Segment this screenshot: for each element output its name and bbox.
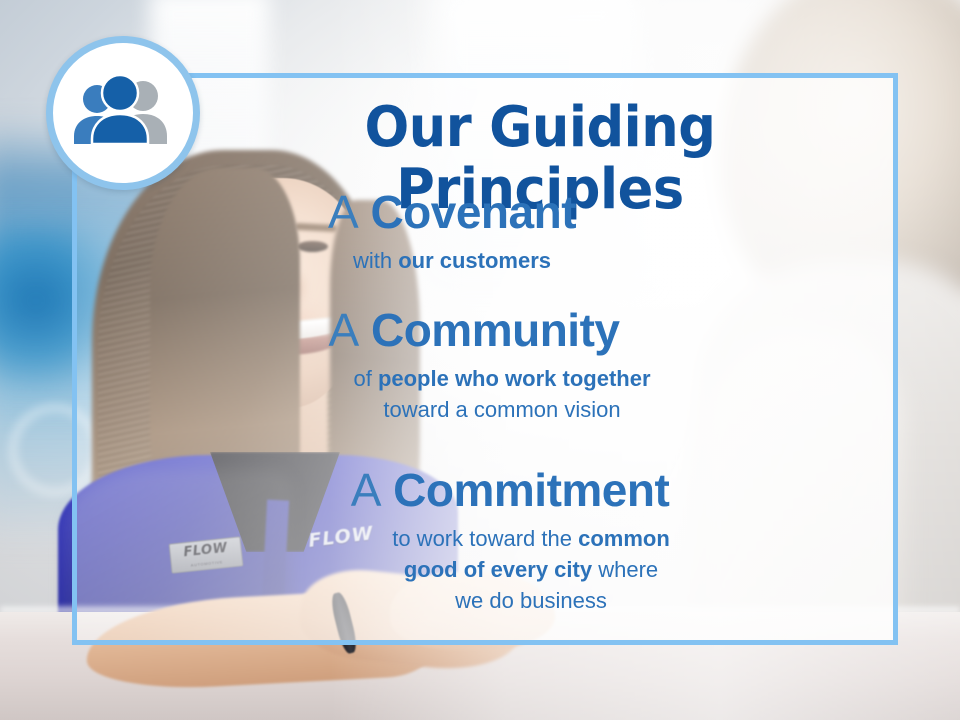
showroom-window-right: [430, 0, 640, 280]
associate-hands: [390, 572, 555, 650]
banner-graphic: FLOW FLOW AUTOMOTIVE: [0, 0, 960, 720]
blurred-wheel: [10, 405, 100, 495]
people-group-badge: [46, 36, 200, 190]
associate-eye-right: [297, 241, 328, 252]
people-group-icon: [71, 76, 175, 150]
